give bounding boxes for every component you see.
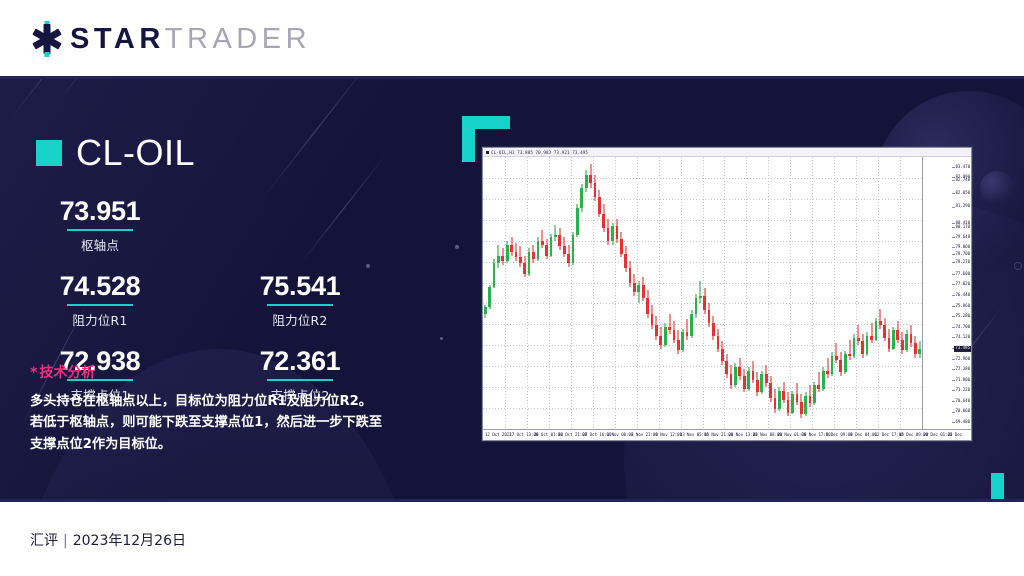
candlestick [831, 157, 834, 429]
corner-bracket-bottom-right [956, 473, 1004, 499]
candlestick [717, 157, 720, 429]
candlestick [703, 157, 706, 429]
price-tick-label: 74.120 [956, 335, 971, 339]
candlestick [892, 157, 895, 429]
level-label: 阻力位R2 [200, 310, 400, 329]
candlestick [870, 157, 873, 429]
candlestick [747, 157, 750, 429]
candlestick [857, 157, 860, 429]
footer-divider [0, 499, 1024, 502]
candlestick [651, 157, 654, 429]
candlestick [532, 157, 535, 429]
price-tick-label: 71.220 [956, 388, 971, 392]
candlestick [866, 157, 869, 429]
candlestick [488, 157, 491, 429]
candlestick [620, 157, 623, 429]
chart-title-bar: CL-OIL,H1 73.885 70.983 73.921 73.495 [483, 148, 971, 157]
price-tick-label: 79.060 [956, 245, 971, 249]
price-tick-label: 80.170 [956, 225, 971, 229]
candlestick [743, 157, 746, 429]
candlestick [809, 157, 812, 429]
candlestick [826, 157, 829, 429]
candlestick [611, 157, 614, 429]
price-tick-label: 77.020 [956, 282, 971, 286]
price-tick-label: 79.640 [956, 235, 971, 239]
candlestick [721, 157, 724, 429]
chart-title-text: CL-OIL,H1 73.885 70.983 73.921 73.495 [491, 150, 588, 155]
analysis-line-2: 若低于枢轴点，则可能下跌至支撑点位1，然后进一步下跌至 [30, 412, 430, 433]
price-tick-label: 72.380 [956, 367, 971, 371]
footer-caption: 汇评|2023年12月26日 [30, 530, 186, 550]
price-tick-label: 82.050 [956, 191, 971, 195]
candlestick [787, 157, 790, 429]
candlestick [501, 157, 504, 429]
candlestick [589, 157, 592, 429]
left-panel: CL-OIL 73.951 枢轴点 74.528 阻力位R1 75.541 [0, 79, 440, 499]
candlestick [708, 157, 711, 429]
candlestick [510, 157, 513, 429]
candlestick [695, 157, 698, 429]
candlestick [563, 157, 566, 429]
candlestick [699, 157, 702, 429]
candlestick [677, 157, 680, 429]
price-tick-label: 69.480 [956, 420, 971, 424]
price-tick-label: 70.640 [956, 399, 971, 403]
time-tick-label: 5 Dec 09:00 [826, 433, 853, 437]
candlestick [769, 157, 772, 429]
footer-date: 2023年12月26日 [73, 533, 186, 549]
price-tick-label: 74.700 [956, 325, 971, 329]
price-tick-label: 81.290 [956, 204, 971, 208]
candlestick [594, 157, 597, 429]
pivot-row: 73.951 枢轴点 [0, 197, 440, 254]
price-tick-label: 76.440 [956, 293, 971, 297]
level-underline [267, 304, 333, 307]
candlestick [875, 157, 878, 429]
price-tick-label: 70.060 [956, 409, 971, 413]
logo-star-text: STAR [70, 25, 165, 54]
candlestick [844, 157, 847, 429]
level-resistance-1: 74.528 阻力位R1 [0, 272, 200, 329]
candlestick [839, 157, 842, 429]
price-tick-label: 71.800 [956, 378, 971, 382]
candlestick [905, 157, 908, 429]
candlestick [616, 157, 619, 429]
candlestick [760, 157, 763, 429]
candlestick [633, 157, 636, 429]
mt4-chart-window[interactable]: CL-OIL,H1 73.885 70.983 73.921 73.495 83… [482, 147, 972, 441]
candlestick [624, 157, 627, 429]
analysis-heading-text: 技术分析 [39, 365, 95, 381]
candlestick [910, 157, 913, 429]
chart-marker-icon [486, 151, 489, 154]
level-pivot: 73.951 枢轴点 [0, 197, 200, 254]
technical-analysis: *技术分析 多头持仓在枢轴点以上，目标位为阻力位R1及阻力位R2。 若低于枢轴点… [30, 362, 430, 455]
candlestick [730, 157, 733, 429]
candlestick [673, 157, 676, 429]
chart-plot-area[interactable] [483, 157, 923, 429]
candlestick [515, 157, 518, 429]
candlestick [523, 157, 526, 429]
price-tick-label: 75.860 [956, 304, 971, 308]
brand-logo: STAR TRADER [30, 22, 311, 56]
candlestick [901, 157, 904, 429]
instrument-symbol: CL-OIL [76, 135, 195, 171]
footer-separator: | [63, 533, 68, 549]
candlestick [791, 157, 794, 429]
candlestick [629, 157, 632, 429]
candlestick [642, 157, 645, 429]
candlestick [914, 157, 917, 429]
time-tick-label: 22 Dec [948, 433, 963, 437]
time-tick-label: 8 Dec 04:00 [850, 433, 877, 437]
candlestick [800, 157, 803, 429]
main-stage: CL-OIL 73.951 枢轴点 74.528 阻力位R1 75.541 [0, 79, 1024, 499]
level-underline [67, 304, 133, 307]
time-tick-label: 3 Nov 23:00 [631, 433, 658, 437]
level-value: 74.528 [0, 272, 200, 301]
candlestick [659, 157, 662, 429]
candlestick [804, 157, 807, 429]
candlestick [541, 157, 544, 429]
candlestick [506, 157, 509, 429]
candlestick [681, 157, 684, 429]
candlestick [585, 157, 588, 429]
candlestick [817, 157, 820, 429]
candlestick [602, 157, 605, 429]
candlestick [782, 157, 785, 429]
candlestick [725, 157, 728, 429]
candlestick [765, 157, 768, 429]
price-tick-label: 77.600 [956, 272, 971, 276]
candlestick [668, 157, 671, 429]
level-label: 阻力位R1 [0, 310, 200, 329]
level-label: 枢轴点 [0, 235, 200, 254]
candlestick [879, 157, 882, 429]
candlestick [734, 157, 737, 429]
time-tick-label: 8 Nov 12:00 [655, 433, 682, 437]
candlestick [835, 157, 838, 429]
candlestick [646, 157, 649, 429]
candlestick [598, 157, 601, 429]
candlestick [493, 157, 496, 429]
candlestick [752, 157, 755, 429]
candlestick [519, 157, 522, 429]
logo-trader-text: TRADER [165, 25, 311, 54]
candlestick [545, 157, 548, 429]
candlestick [528, 157, 531, 429]
candlestick [655, 157, 658, 429]
chart-time-axis[interactable]: 12 Oct 202317 Oct 13:0020 Oct 01:0024 Oc… [483, 429, 971, 440]
brand-wordmark: STAR TRADER [70, 25, 311, 54]
candlestick [738, 157, 741, 429]
candlestick [774, 157, 777, 429]
candlestick [558, 157, 561, 429]
price-tick-label: 75.280 [956, 314, 971, 318]
price-tick-label: 78.270 [956, 260, 971, 264]
price-tick-label: 82.740 [956, 178, 971, 182]
candlestick [918, 157, 921, 429]
candlestick [572, 157, 575, 429]
candlestick [712, 157, 715, 429]
level-value: 75.541 [200, 272, 400, 301]
candlestick [813, 157, 816, 429]
level-resistance-2: 75.541 阻力位R2 [200, 272, 400, 329]
candlestick [861, 157, 864, 429]
time-tick-label: 1 Nov 00:00 [607, 433, 634, 437]
candlestick [686, 157, 689, 429]
candlestick [484, 157, 487, 429]
candlestick [637, 157, 640, 429]
candlestick [607, 157, 610, 429]
candlestick [796, 157, 799, 429]
page-footer: 汇评|2023年12月26日 [0, 499, 1024, 576]
current-price-tag: 73.495 [954, 346, 971, 352]
candlestick [896, 157, 899, 429]
page-header: STAR TRADER [0, 0, 1024, 78]
candlestick [537, 157, 540, 429]
candlestick [848, 157, 851, 429]
footer-label: 汇评 [30, 533, 58, 549]
analysis-line-3: 支撑点位2作为目标位。 [30, 434, 430, 455]
resistance-row: 74.528 阻力位R1 75.541 阻力位R2 [0, 272, 440, 329]
candlestick [567, 157, 570, 429]
chart-price-axis[interactable]: 83.47082.89082.74082.05081.29080.41080.1… [923, 157, 971, 429]
level-underline [67, 229, 133, 232]
candlestick [883, 157, 886, 429]
price-tick-label: 78.700 [956, 252, 971, 256]
analysis-line-1: 多头持仓在枢轴点以上，目标位为阻力位R1及阻力位R2。 [30, 391, 430, 412]
time-tick-label: 12 Oct 2023 [485, 433, 512, 437]
candlestick [778, 157, 781, 429]
candlestick [554, 157, 557, 429]
candlestick [580, 157, 583, 429]
candlestick [690, 157, 693, 429]
candlestick [576, 157, 579, 429]
asterisk-marker: * [30, 365, 37, 381]
candlestick [888, 157, 891, 429]
candlestick [822, 157, 825, 429]
asterisk-star-icon [30, 22, 64, 56]
analysis-heading: *技术分析 [30, 362, 430, 382]
candlestick [550, 157, 553, 429]
level-value: 73.951 [0, 197, 200, 226]
candlestick [497, 157, 500, 429]
candlestick [664, 157, 667, 429]
candlestick [756, 157, 759, 429]
title-accent-square [36, 140, 62, 166]
candlestick [853, 157, 856, 429]
instrument-title-row: CL-OIL [36, 135, 195, 171]
price-tick-label: 72.960 [956, 356, 971, 360]
chart-panel: CL-OIL,H1 73.885 70.983 73.921 73.495 83… [440, 79, 1024, 499]
price-tick-label: 83.470 [956, 165, 971, 169]
